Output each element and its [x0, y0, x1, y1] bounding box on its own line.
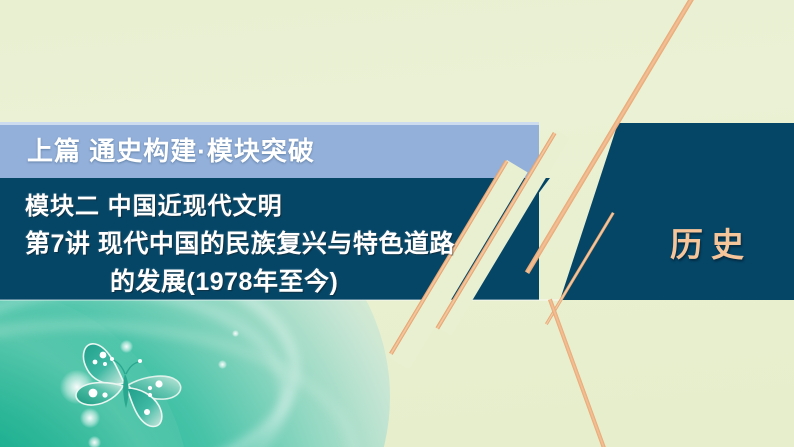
light-orb-decoration [218, 360, 227, 369]
butterfly-icon [62, 336, 192, 436]
light-orb-decoration [232, 330, 239, 337]
banner-bottom-rim [0, 299, 560, 301]
light-orb-decoration [88, 436, 101, 447]
module-title: 模块二 中国近现代文明 [25, 186, 283, 221]
presentation-slide: 上篇 通史构建·模块突破 模块二 中国近现代文明 第7讲 现代中国的民族复兴与特… [0, 0, 794, 447]
lecture-title-line-1: 第7讲 现代中国的民族复兴与特色道路 [25, 224, 455, 260]
subject-badge-label: 历史 [670, 218, 752, 266]
banner-top-title: 上篇 通史构建·模块突破 [27, 131, 315, 168]
lecture-title-line-2: 的发展(1978年至今) [110, 262, 338, 298]
